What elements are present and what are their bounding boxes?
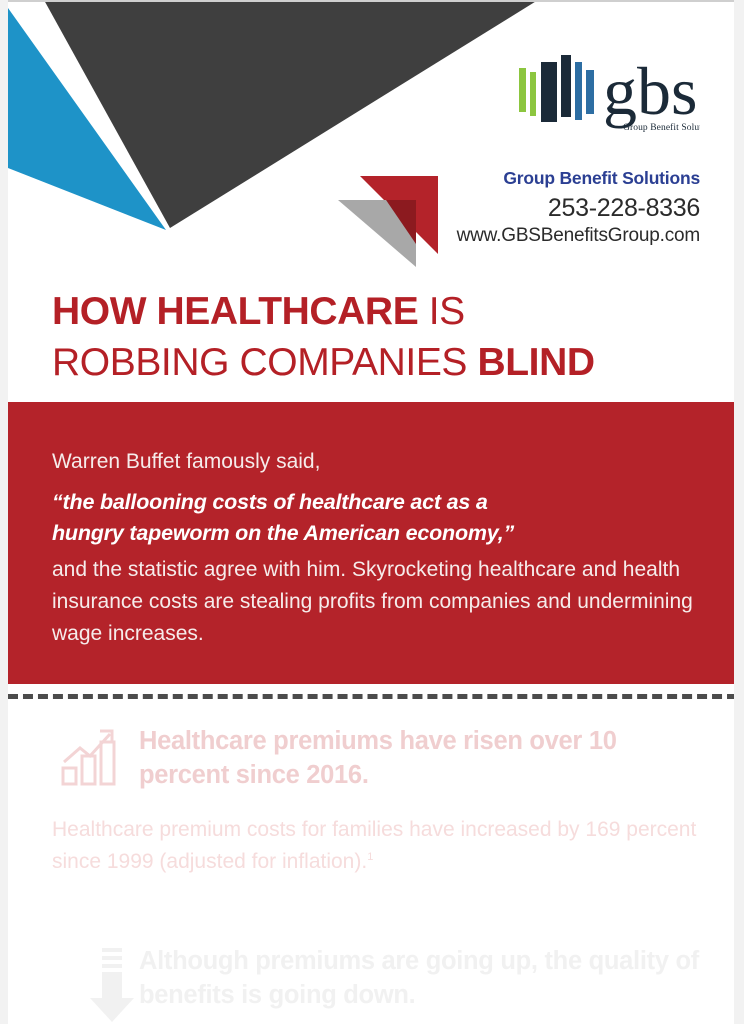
gbs-tagline: Group Benefit Solutions bbox=[623, 122, 700, 133]
page-title: HOW HEALTHCARE IS ROBBING COMPANIES BLIN… bbox=[52, 286, 712, 389]
gbs-logo-block: gbs Group Benefit Solutions bbox=[440, 52, 700, 142]
headline-bold-1: HOW HEALTHCARE bbox=[52, 290, 418, 333]
benefits-quality-section: Although premiums are going up, the qual… bbox=[8, 930, 744, 1024]
buffett-quote: “the ballooning costs of healthcare act … bbox=[52, 487, 652, 549]
company-name: Group Benefit Solutions bbox=[400, 168, 700, 189]
stat-body-text: Healthcare premium costs for families ha… bbox=[52, 818, 696, 873]
down-arrow-icon bbox=[86, 946, 138, 1024]
stat-body: Healthcare premium costs for families ha… bbox=[52, 814, 712, 877]
website-url[interactable]: www.GBSBenefitsGroup.com bbox=[400, 224, 700, 248]
premiums-stat-section: Healthcare premiums have risen over 10 p… bbox=[8, 714, 744, 894]
growth-bar-chart-icon bbox=[60, 726, 124, 788]
quote-attribution-lead: Warren Buffet famously said, bbox=[52, 446, 320, 478]
blue-triangle-shape bbox=[8, 8, 166, 230]
headline-regular-1: IS bbox=[429, 290, 465, 333]
header-top-rule bbox=[8, 0, 744, 2]
gbs-bars-logo-icon: gbs Group Benefit Solutions bbox=[515, 52, 700, 142]
headline-regular-2: ROBBING COMPANIES bbox=[52, 341, 467, 384]
bottom-heading: Although premiums are going up, the qual… bbox=[139, 944, 719, 1012]
quote-line-2: hungry tapeworm on the American economy,… bbox=[52, 521, 514, 545]
headline-line-1: HOW HEALTHCARE IS bbox=[52, 286, 712, 337]
quote-band: Warren Buffet famously said, “the balloo… bbox=[8, 402, 742, 684]
headline-line-2: ROBBING COMPANIES BLIND bbox=[52, 337, 712, 388]
infographic-page: gbs Group Benefit Solutions HOW HEALTHCA… bbox=[0, 0, 744, 1024]
quote-line-1: “the ballooning costs of healthcare act … bbox=[52, 490, 488, 514]
gbs-wordmark: gbs bbox=[603, 53, 697, 129]
phone-number[interactable]: 253-228-8336 bbox=[400, 193, 700, 224]
footnote-marker: 1 bbox=[367, 851, 373, 863]
headline-bold-2: BLIND bbox=[477, 341, 594, 384]
dashed-divider bbox=[8, 694, 744, 699]
contact-block: Group Benefit Solutions 253-228-8336 www… bbox=[400, 168, 700, 248]
quote-follow-up-text: and the statistic agree with him. Skyroc… bbox=[52, 554, 702, 650]
stat-heading: Healthcare premiums have risen over 10 p… bbox=[139, 724, 709, 792]
